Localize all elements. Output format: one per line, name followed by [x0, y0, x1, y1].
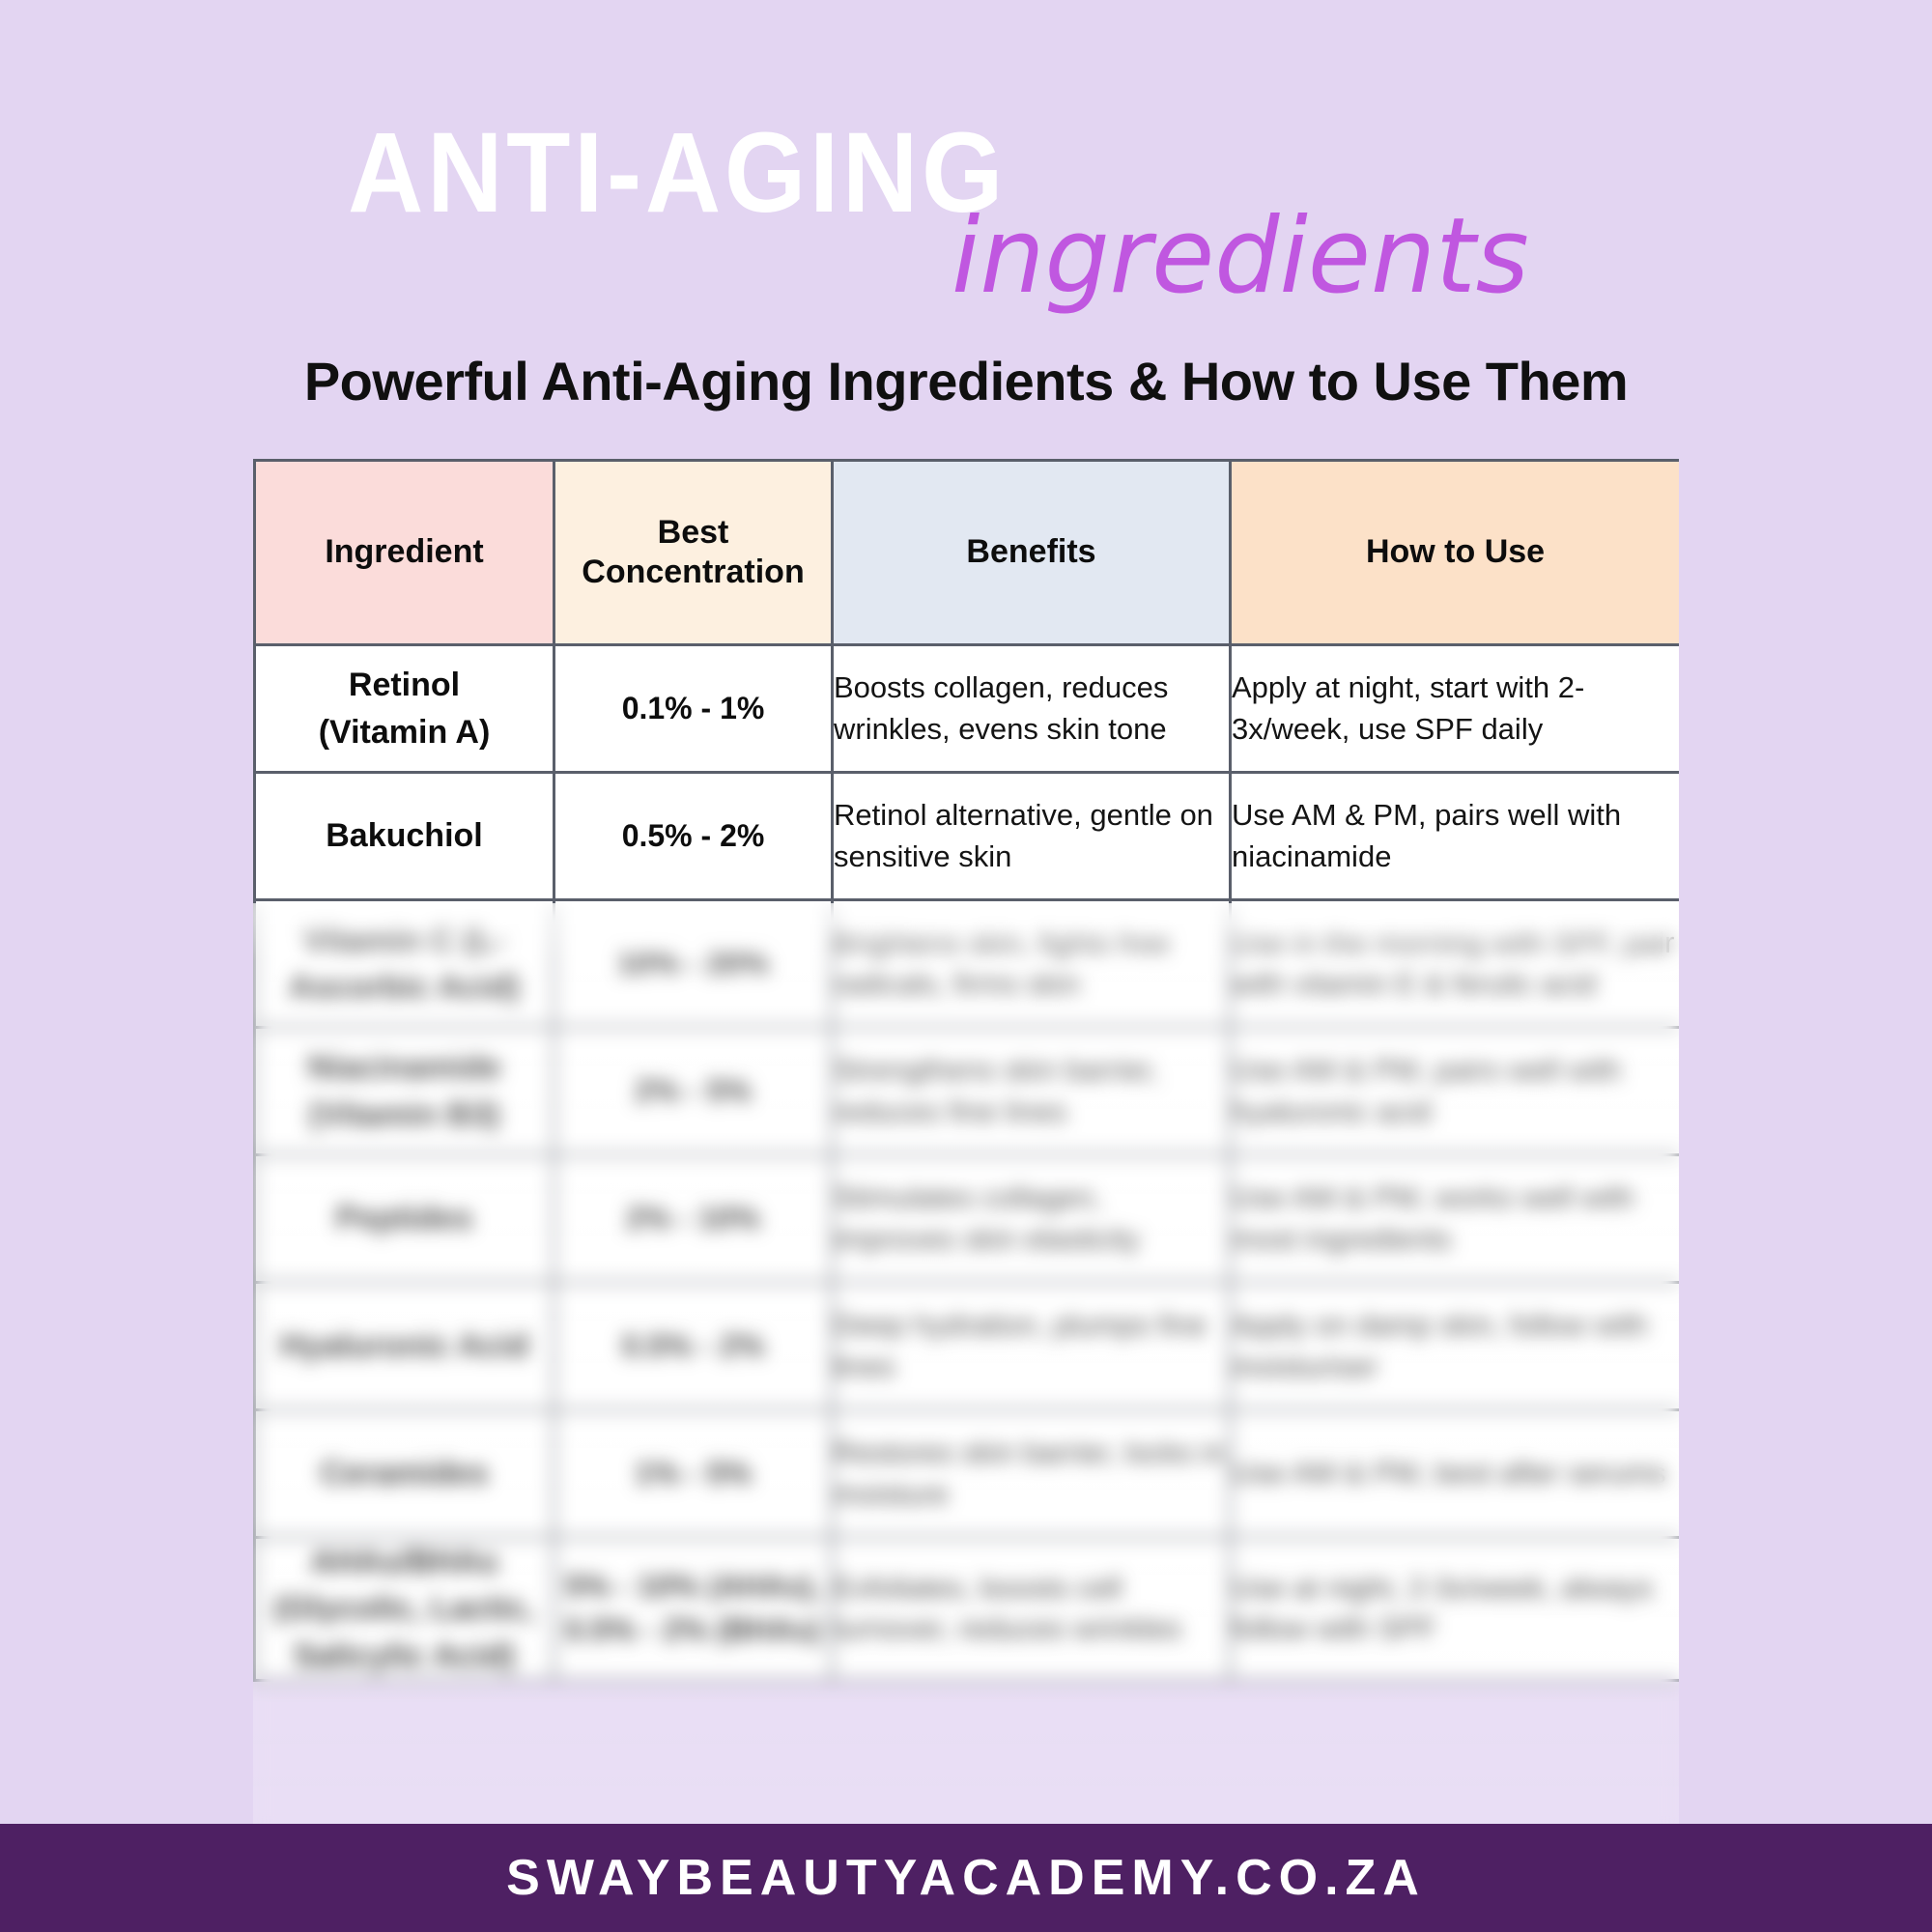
page-title-main: ANTI-AGING [348, 116, 1007, 230]
ingredient-name-line1: Vitamin C (L- [303, 922, 505, 958]
cell-concentration: 2% - 10% [554, 1155, 833, 1283]
cell-benefits: Restores skin barrier, locks in moisture [833, 1410, 1231, 1538]
cell-benefits: Strengthens skin barrier, reduces fine l… [833, 1028, 1231, 1155]
column-header-how-to-use[interactable]: How to Use [1231, 461, 1680, 645]
column-header-benefits[interactable]: Benefits [833, 461, 1231, 645]
table-row[interactable]: Vitamin C (L-Ascorbic Acid)10% - 20%Brig… [255, 900, 1680, 1028]
table-row[interactable]: Peptides2% - 10%Stimulates collagen, imp… [255, 1155, 1680, 1283]
cell-benefits: Boosts collagen, reduces wrinkles, evens… [833, 645, 1231, 773]
footer-website-link[interactable]: SWAYBEAUTYACADEMY.CO.ZA [506, 1849, 1426, 1907]
cell-concentration: 10% - 20% [554, 900, 833, 1028]
cell-how-to-use: Apply at night, start with 2-3x/week, us… [1231, 645, 1680, 773]
table-header-row: Ingredient Best Concentration Benefits H… [255, 461, 1680, 645]
cell-concentration: 1% - 5% [554, 1410, 833, 1538]
table-row[interactable]: AHAs/BHAs(Glycolic, Lactic, Salicylic Ac… [255, 1538, 1680, 1681]
cell-concentration: 5% - 10% (AHAs), 0.5% - 2% (BHAs) [554, 1538, 833, 1681]
cell-how-to-use: Use AM & PM, pairs well with niacinamide [1231, 773, 1680, 900]
ingredient-name-line1: Bakuchiol [326, 817, 482, 854]
cell-concentration: 0.1% - 1% [554, 645, 833, 773]
cell-how-to-use: Apply on damp skin, follow with moisturi… [1231, 1283, 1680, 1410]
cell-benefits: Stimulates collagen, improves skin elast… [833, 1155, 1231, 1283]
column-header-best-concentration-line2: Concentration [582, 554, 804, 590]
ingredient-name-line2: Ascorbic Acid) [289, 969, 520, 1006]
cell-ingredient: Hyaluronic Acid [255, 1283, 554, 1410]
ingredient-name-line2: (Vitamin A) [319, 714, 491, 751]
page-title-script: ingredients [952, 205, 1529, 309]
cell-ingredient: Retinol(Vitamin A) [255, 645, 554, 773]
cell-ingredient: AHAs/BHAs(Glycolic, Lactic, Salicylic Ac… [255, 1538, 554, 1681]
ingredient-name-line1: AHAs/BHAs [310, 1544, 498, 1580]
column-header-best-concentration-line1: Best [658, 514, 729, 551]
ingredient-name-line1: Niacinamide [307, 1049, 500, 1086]
cell-benefits: Retinol alternative, gentle on sensitive… [833, 773, 1231, 900]
cell-ingredient: Bakuchiol [255, 773, 554, 900]
infographic-page: ANTI-AGING ingredients Powerful Anti-Agi… [0, 0, 1932, 1932]
footer-bar: SWAYBEAUTYACADEMY.CO.ZA [0, 1824, 1932, 1932]
table-header: Ingredient Best Concentration Benefits H… [255, 461, 1680, 645]
cell-how-to-use: Use AM & PM, best after serums [1231, 1410, 1680, 1538]
ingredient-name-line1: Ceramides [321, 1455, 489, 1492]
table-row[interactable]: Hyaluronic Acid0.5% - 2%Deep hydration, … [255, 1283, 1680, 1410]
table-row[interactable]: Retinol(Vitamin A)0.1% - 1%Boosts collag… [255, 645, 1680, 773]
ingredient-name-line2: (Glycolic, Lactic, Salicylic Acid) [273, 1590, 534, 1673]
title-block: ANTI-AGING ingredients [0, 116, 1932, 328]
ingredient-name-line1: Hyaluronic Acid [280, 1327, 529, 1364]
cell-how-to-use: Use AM & PM, works well with most ingred… [1231, 1155, 1680, 1283]
table-row[interactable]: Niacinamide(Vitamin B3)2% - 5%Strengthen… [255, 1028, 1680, 1155]
cell-benefits: Brightens skin, fights free radicals, fi… [833, 900, 1231, 1028]
cell-concentration: 0.5% - 2% [554, 1283, 833, 1410]
table-row[interactable]: Ceramides1% - 5%Restores skin barrier, l… [255, 1410, 1680, 1538]
cell-concentration: 0.5% - 2% [554, 773, 833, 900]
cell-concentration: 2% - 5% [554, 1028, 833, 1155]
column-header-ingredient[interactable]: Ingredient [255, 461, 554, 645]
ingredient-name-line2: (Vitamin B3) [309, 1096, 500, 1133]
cell-how-to-use: Use in the morning with SPF, pair with v… [1231, 900, 1680, 1028]
cell-ingredient: Niacinamide(Vitamin B3) [255, 1028, 554, 1155]
cell-how-to-use: Use AM & PM, pairs well with hyaluronic … [1231, 1028, 1680, 1155]
cell-ingredient: Peptides [255, 1155, 554, 1283]
cell-how-to-use: Use at night, 2-3x/week, always follow w… [1231, 1538, 1680, 1681]
cell-benefits: Exfoliates, boosts cell turnover, reduce… [833, 1538, 1231, 1681]
ingredients-table-wrapper: Ingredient Best Concentration Benefits H… [253, 459, 1679, 1840]
page-subtitle: Powerful Anti-Aging Ingredients & How to… [0, 350, 1932, 412]
cell-benefits: Deep hydration, plumps fine lines [833, 1283, 1231, 1410]
cell-ingredient: Vitamin C (L-Ascorbic Acid) [255, 900, 554, 1028]
ingredients-table: Ingredient Best Concentration Benefits H… [253, 459, 1679, 1682]
ingredient-name-line1: Retinol [349, 667, 460, 703]
ingredient-name-line1: Peptides [336, 1200, 473, 1236]
table-row[interactable]: Bakuchiol0.5% - 2%Retinol alternative, g… [255, 773, 1680, 900]
column-header-best-concentration[interactable]: Best Concentration [554, 461, 833, 645]
cell-ingredient: Ceramides [255, 1410, 554, 1538]
table-body: Retinol(Vitamin A)0.1% - 1%Boosts collag… [255, 645, 1680, 1681]
